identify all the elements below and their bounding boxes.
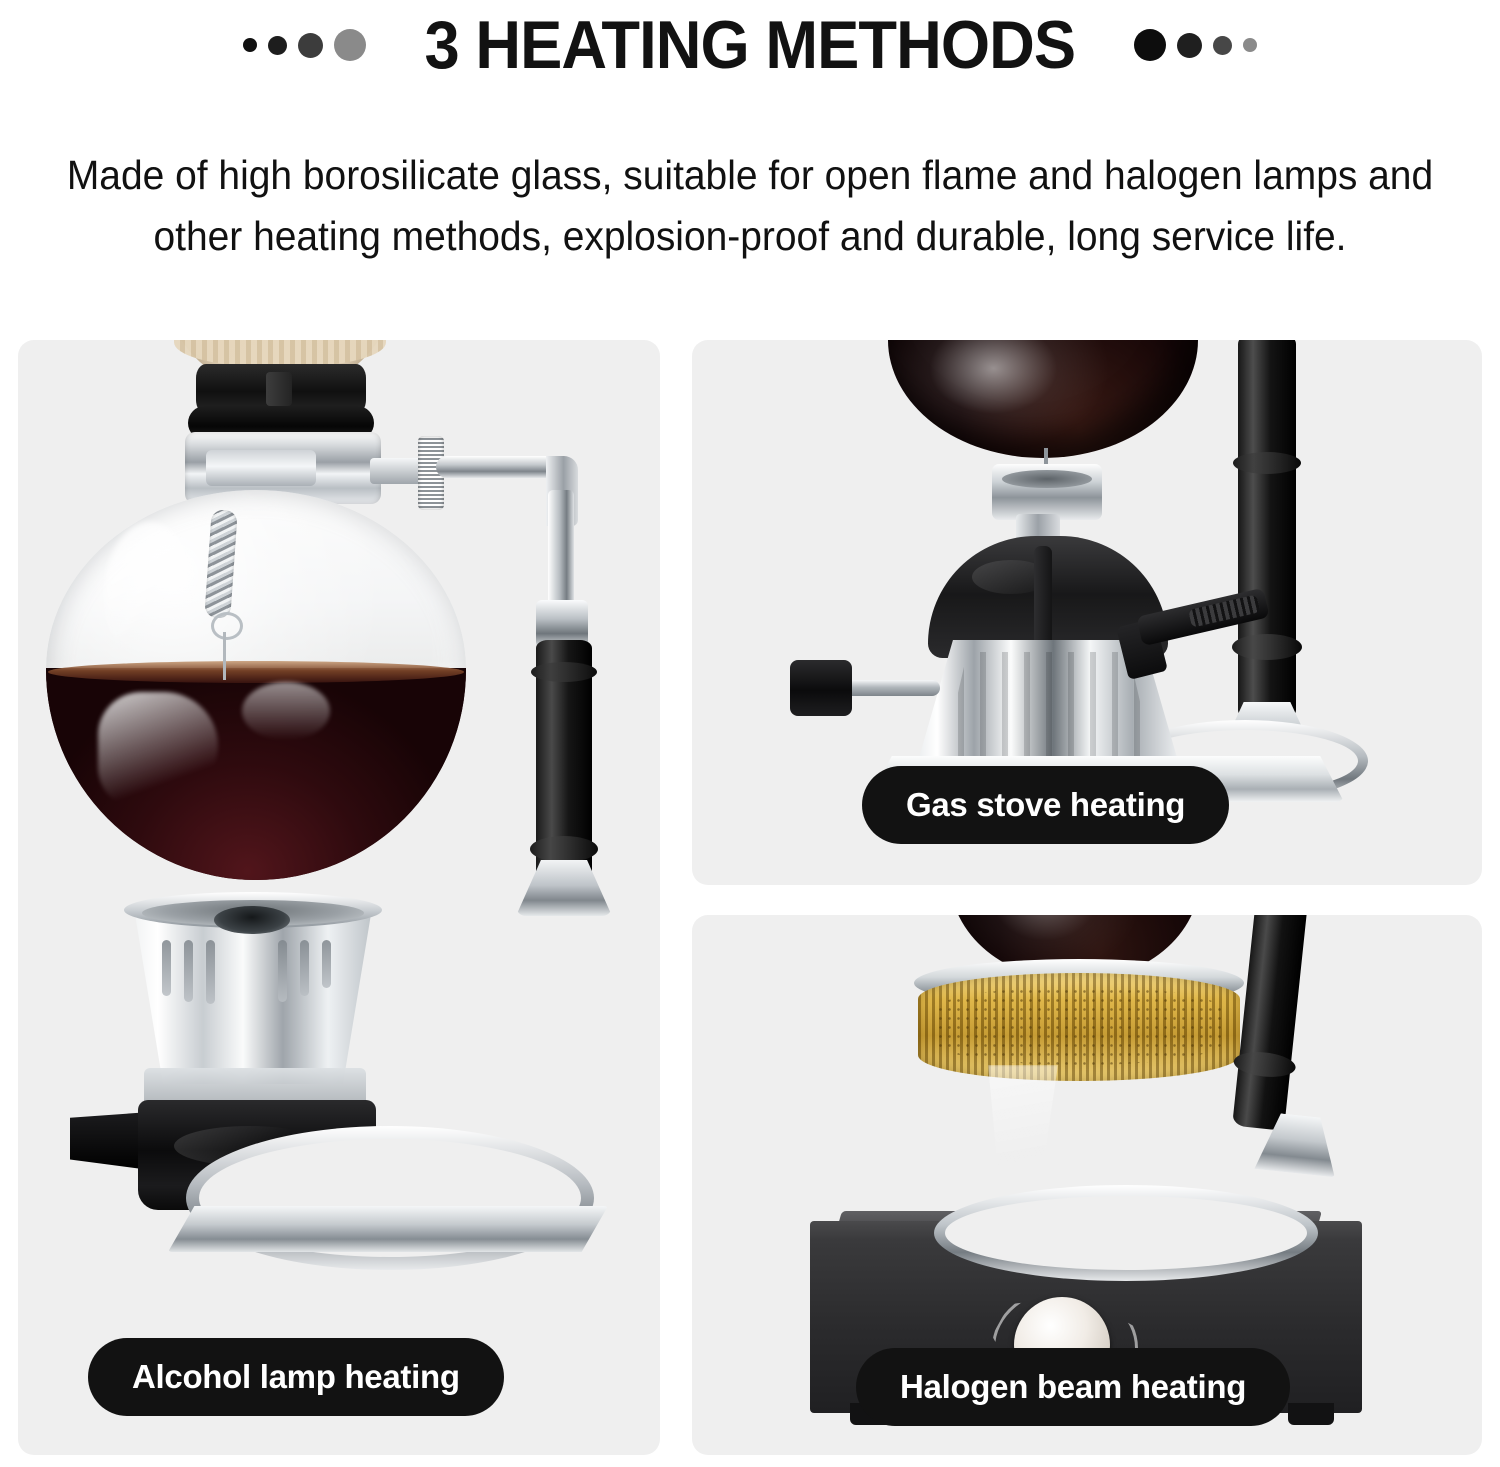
vent-slot (300, 940, 309, 996)
decor-dot (1134, 29, 1166, 61)
decor-dot (298, 33, 323, 58)
base-foot (1288, 1403, 1334, 1425)
vent-slot (278, 940, 287, 1002)
decorative-dots-left (243, 29, 366, 61)
page-title: 3 HEATING METHODS (425, 11, 1076, 79)
chrome-ring-stand (934, 1185, 1318, 1281)
chrome-base-plate (168, 1206, 608, 1252)
label-text: Halogen beam heating (900, 1368, 1246, 1406)
decor-dot (243, 38, 257, 52)
decor-dot (334, 29, 366, 61)
chrome-body-reflections (942, 652, 1154, 762)
lamp-wick (214, 906, 290, 934)
gas-control-rod (844, 680, 940, 696)
windshield-vent-slots (128, 940, 378, 1060)
vent-slot (184, 940, 193, 1002)
black-wooden-handle (1238, 340, 1296, 720)
header: 3 HEATING METHODS Made of high borosilic… (0, 0, 1500, 320)
vent-slot (322, 940, 331, 988)
black-wooden-handle (1232, 915, 1316, 1131)
vent-slot (162, 940, 171, 996)
title-row: 3 HEATING METHODS (0, 4, 1500, 86)
decor-dot (268, 36, 287, 55)
burner-head (992, 464, 1102, 520)
label-gas-stove-heating: Gas stove heating (862, 766, 1229, 844)
alcohol-lamp-illustration (18, 340, 660, 1455)
label-alcohol-lamp-heating: Alcohol lamp heating (88, 1338, 504, 1416)
decor-dot (1177, 33, 1202, 58)
siphon-globe-bottom (888, 340, 1198, 458)
panel-alcohol-lamp (18, 340, 660, 1455)
burner-stem (1034, 546, 1052, 656)
vent-slot (206, 940, 215, 1004)
gas-control-knob[interactable] (790, 660, 852, 716)
label-halogen-beam-heating: Halogen beam heating (856, 1348, 1290, 1426)
gold-perforation-pattern (936, 987, 1222, 1065)
label-text: Gas stove heating (906, 786, 1185, 824)
decorative-dots-right (1134, 29, 1257, 61)
page-subtitle: Made of high borosilicate glass, suitabl… (66, 145, 1434, 266)
decor-dot (1213, 36, 1232, 55)
label-text: Alcohol lamp heating (132, 1358, 460, 1396)
decor-dot (1243, 38, 1257, 52)
